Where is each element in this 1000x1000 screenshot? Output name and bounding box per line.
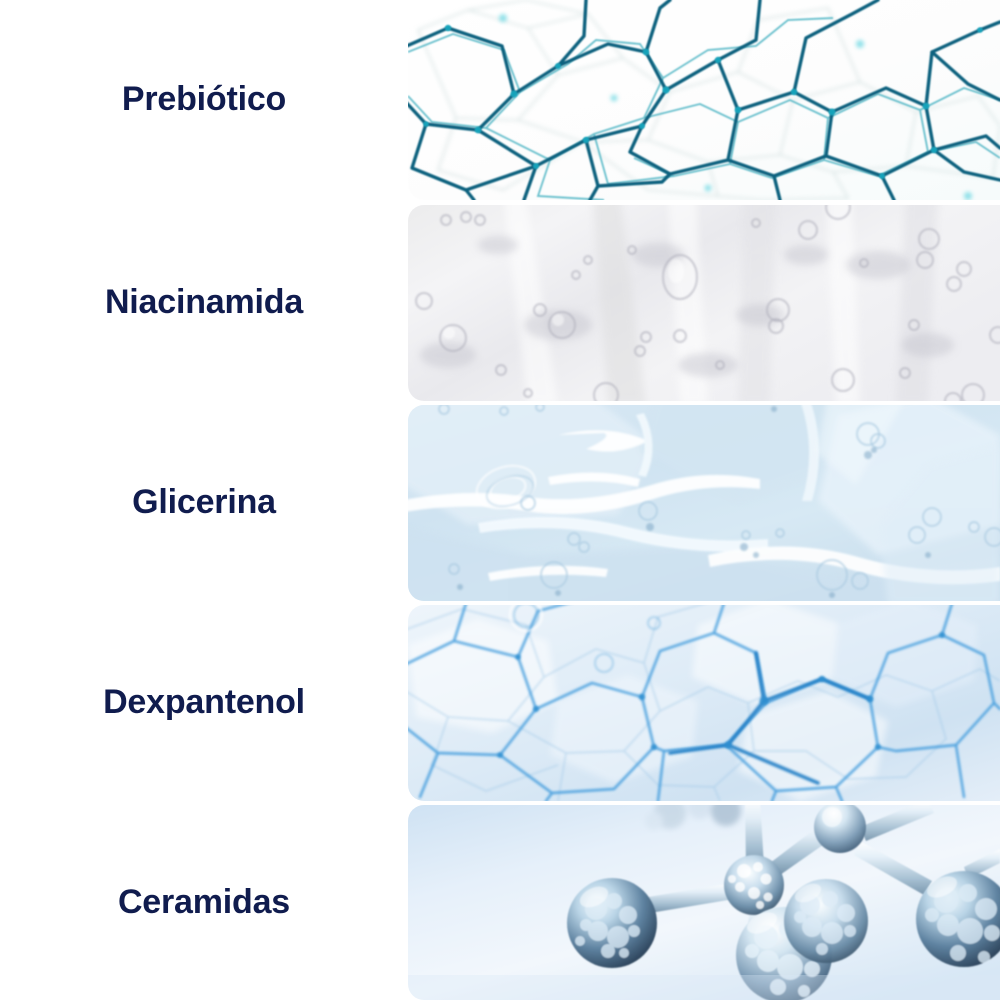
ingredient-label-wrap-niacinamida: Niacinamida <box>0 205 408 401</box>
prebiotic-foam-network-image <box>408 0 1000 200</box>
ingredient-label-wrap-dexpantenol: Dexpantenol <box>0 605 408 801</box>
ingredient-row-dexpantenol: Dexpantenol <box>0 605 1000 801</box>
ingredient-row-prebiotico: Prebiótico <box>0 0 1000 200</box>
ingredient-label-dexpantenol: Dexpantenol <box>103 685 305 721</box>
ingredient-row-glicerina: Glicerina <box>0 405 1000 601</box>
niacinamide-gel-bubbles-image <box>408 205 1000 401</box>
ingredients-panel: Prebiótico <box>0 0 1000 1000</box>
ingredient-label-niacinamida: Niacinamida <box>105 285 303 321</box>
ingredient-label-wrap-glicerina: Glicerina <box>0 405 408 601</box>
ingredient-label-ceramidas: Ceramidas <box>118 885 290 921</box>
ceramides-molecule-image <box>408 805 1000 1000</box>
ingredient-label-prebiotico: Prebiótico <box>122 82 286 118</box>
ingredient-row-niacinamida: Niacinamida <box>0 205 1000 401</box>
ingredient-row-ceramidas: Ceramidas <box>0 805 1000 1000</box>
ingredient-label-glicerina: Glicerina <box>132 485 276 521</box>
ingredient-label-wrap-ceramidas: Ceramidas <box>0 805 408 1000</box>
glycerin-gel-streaks-image <box>408 405 1000 601</box>
ingredient-label-wrap-prebiotico: Prebiótico <box>0 10 408 190</box>
dexpanthenol-bubble-foam-image <box>408 605 1000 801</box>
